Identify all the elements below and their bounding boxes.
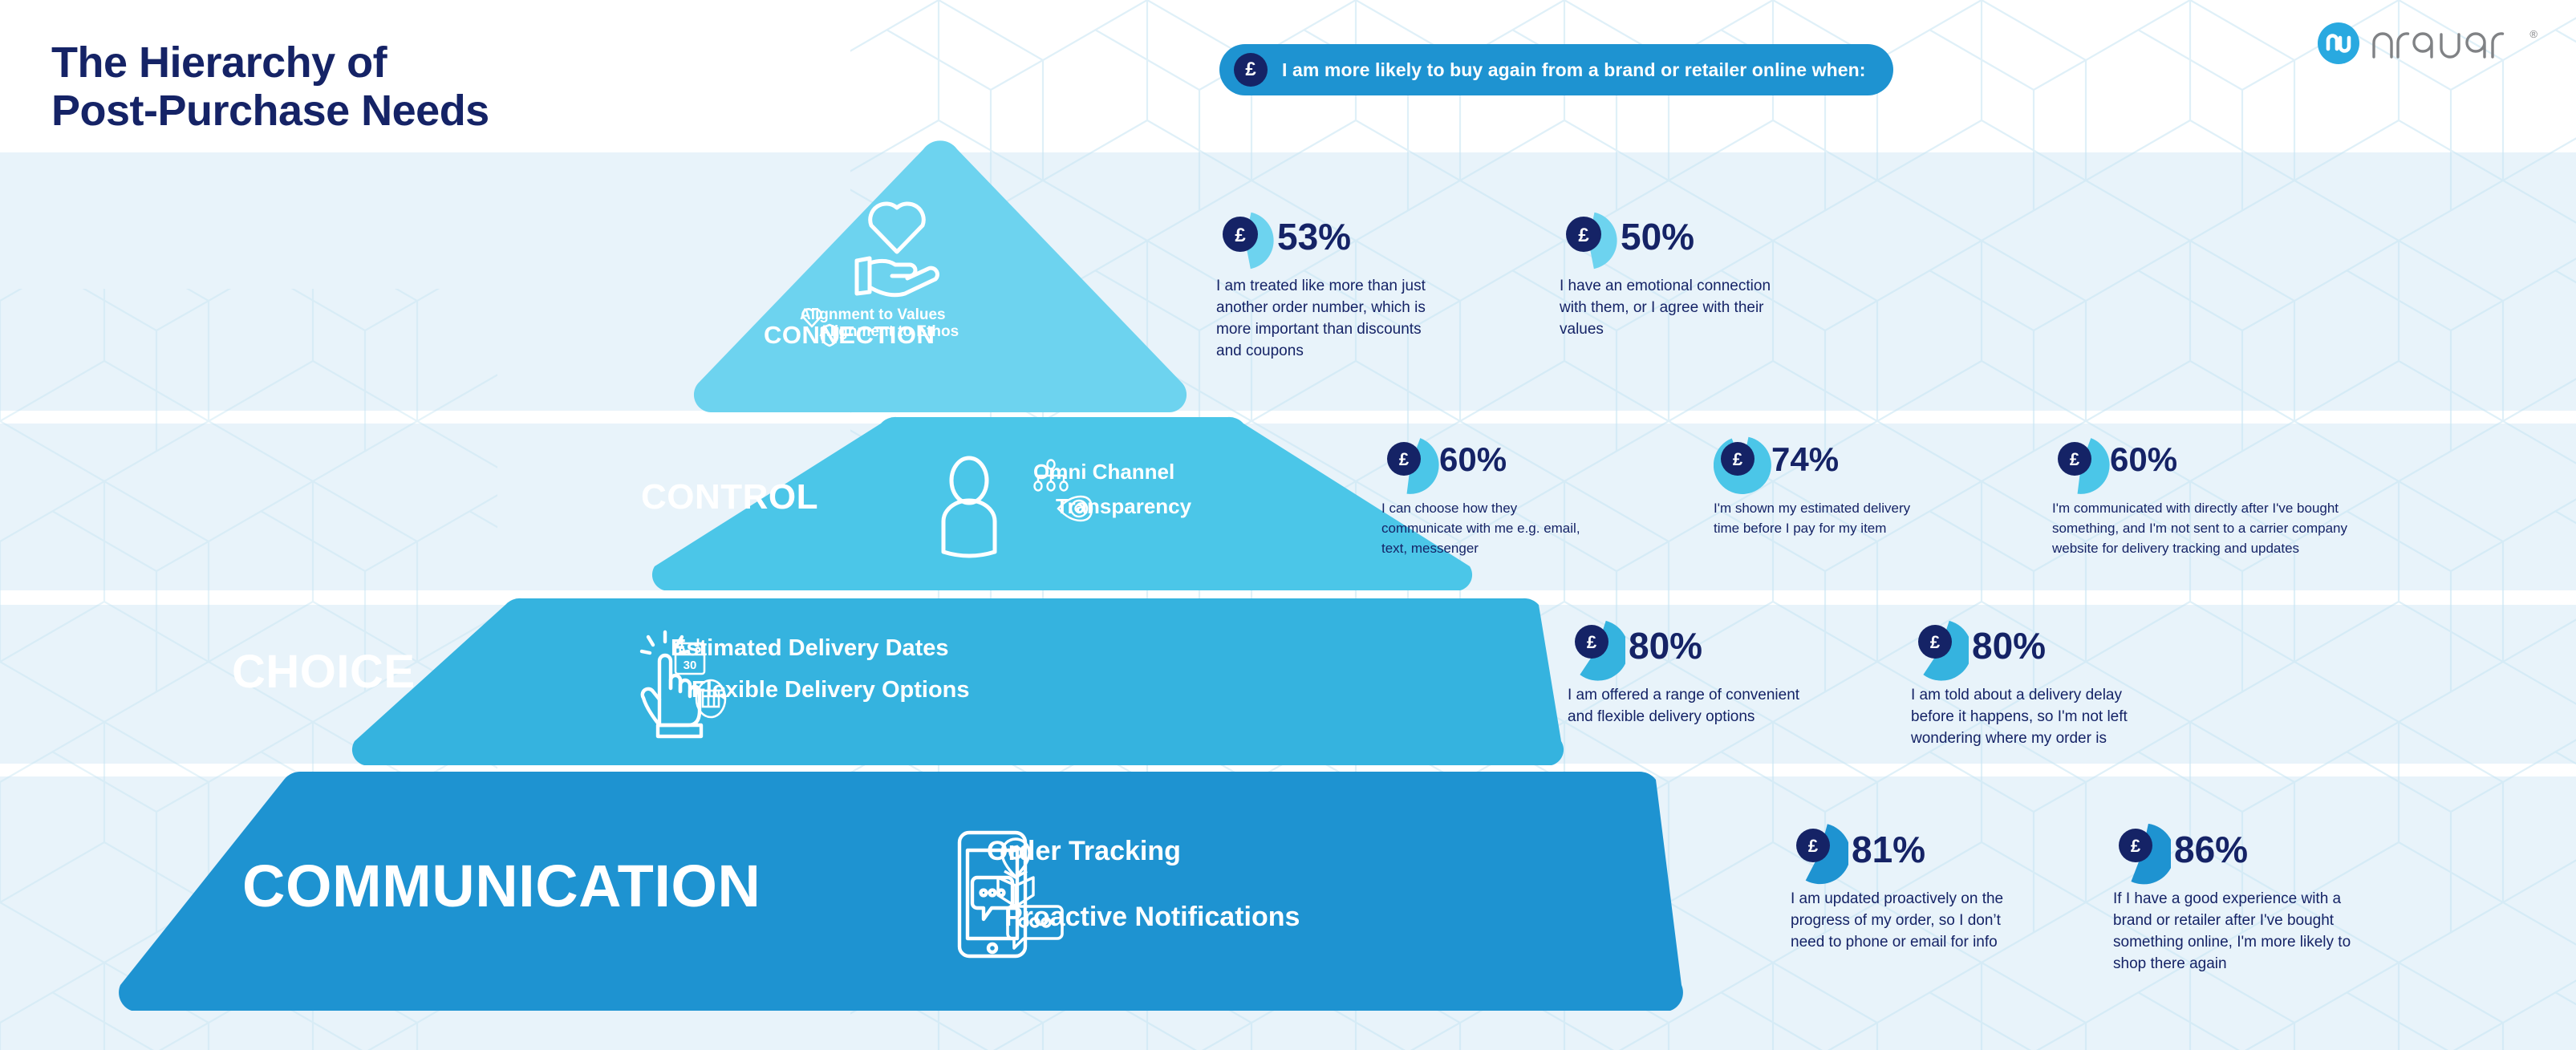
stat-head: £ 50% [1560,215,1776,266]
stat-percent: 80% [1972,627,2046,664]
calendar-30-icon: 30 [671,635,709,679]
feature-label: Estimated Delivery Dates [671,635,949,662]
stat-description: I am updated proactively on the progress… [1791,889,2031,954]
pound-sterling-badge-icon: £ [1791,821,1848,886]
header-banner: £ I am more likely to buy again from a b… [1219,44,1893,95]
stat-percent: 86% [2174,831,2248,868]
pound-sterling-badge-icon: £ [2113,821,2171,886]
feature-label: Alignment to Ethos [819,323,959,341]
page-title-line-2: Post-Purchase Needs [51,87,693,135]
pyramid-tier-communication[interactable]: COMMUNICATION Order Tracking Proactive N… [114,772,1688,1011]
stat-description: I can choose how they communicate with m… [1381,499,1582,558]
stat-card-60-control-b: £ 60% I'm communicated with directly aft… [2052,440,2373,558]
tier-choice-feature-0: Estimated Delivery Dates 30 [671,635,949,662]
tier-control-feature-0: Omni Channel [1033,460,1174,484]
tier-connection-feature-0: Alignment to Values [800,306,946,324]
tier-connection-feature-1: Alignment to Ethos [819,323,959,341]
stat-head: £ 74% [1714,440,1914,491]
stat-percent: 50% [1621,218,1694,255]
stat-description: I have an emotional connection with them… [1560,276,1776,341]
package-location-pin-icon [987,836,1045,910]
stat-card-86: £ 86% If I have a good experience with a… [2113,828,2378,975]
chat-bubble-dots-icon [1004,902,1065,950]
page-title-line-1: The Hierarchy of [51,39,387,87]
page-title: The Hierarchy of Post-Purchase Needs [51,39,693,136]
stat-head: £ 86% [2113,828,2378,879]
stat-percent: 60% [2110,443,2177,476]
stat-card-80-choice-b: £ 80% I am told about a delivery delay b… [1911,624,2168,750]
pyramid-tier-choice[interactable]: CHOICE Estimated Delivery Dates 30 Flexi… [348,598,1568,765]
svg-text:£: £ [1930,632,1941,652]
narvar-logo: ® [2318,22,2537,64]
registered-trademark-mark: ® [2529,28,2537,40]
tier-label-control: CONTROL [641,477,818,517]
stat-description: I am treated like more than just another… [1216,276,1433,363]
stat-head: £ 81% [1791,828,2031,879]
stat-description: I am told about a delivery delay before … [1911,685,2168,750]
stat-card-80-choice-a: £ 80% I am offered a range of convenient… [1568,624,1808,728]
stat-description: I am offered a range of convenient and f… [1568,685,1808,728]
pound-sterling-icon: £ [1234,53,1268,87]
stat-head: £ 60% [2052,440,2373,491]
pound-sterling-badge-icon: £ [1568,618,1625,682]
svg-text:£: £ [1587,632,1597,652]
pound-sterling-badge-icon: £ [1381,433,1439,497]
stat-card-74: £ 74% I'm shown my estimated delivery ti… [1714,440,1914,539]
stat-percent: 53% [1277,218,1351,255]
stat-head: £ 53% [1216,215,1433,266]
pound-sterling-badge-icon: £ [2052,433,2110,497]
stat-percent: 81% [1852,831,1925,868]
pound-sterling-badge-icon: £ [1911,618,1969,682]
shield-icon [819,323,840,347]
pyramid-tier-control[interactable]: CONTROL Omni Channel Transparency [648,417,1476,590]
stat-description: If I have a good experience with a brand… [2113,889,2378,975]
stat-card-81: £ 81% I am updated proactively on the pr… [1791,828,2031,954]
person-icon [921,454,1017,558]
tier-communication-feature-0: Order Tracking [987,836,1181,867]
narvar-wordmark: ® [2371,25,2537,62]
tier-choice-feature-1: Flexible Delivery Options [692,677,970,703]
stat-card-50: £ 50% I have an emotional connection wit… [1560,215,1776,341]
stat-percent: 80% [1629,627,1702,664]
stat-card-60-control-a: £ 60% I can choose how they communicate … [1381,440,1582,558]
svg-text:£: £ [1733,449,1743,469]
svg-text:30: 30 [684,659,697,672]
pound-sterling-badge-icon: £ [1560,209,1617,273]
svg-text:£: £ [2131,836,2141,856]
eye-icon [1056,494,1093,523]
org-chart-icon [1033,460,1069,493]
tier-label-communication: COMMUNICATION [242,852,761,920]
narvar-wordmark-glyphs [2371,25,2528,62]
stat-head: £ 80% [1911,624,2168,675]
stat-percent: 60% [1439,443,1507,476]
tier-control-feature-1: Transparency [1056,494,1191,519]
calendar-refresh-icon [692,677,733,720]
stat-head: £ 80% [1568,624,1808,675]
stat-description: I'm communicated with directly after I'v… [2052,499,2373,558]
stat-percent: 74% [1771,443,1839,476]
svg-text:£: £ [1235,225,1246,246]
svg-text:£: £ [1808,836,1819,856]
svg-text:£: £ [2070,449,2080,469]
stat-card-53: £ 53% I am treated like more than just a… [1216,215,1433,363]
infographic-canvas: The Hierarchy of Post-Purchase Needs £ I… [0,0,2576,1050]
pyramid-tier-connection[interactable]: CONNECTION Alignment to Values Alignment… [692,143,1189,412]
svg-text:£: £ [1578,225,1589,246]
hand-holding-heart-icon [842,193,955,313]
narvar-mark-icon [2318,22,2359,64]
stat-description: I'm shown my estimated delivery time bef… [1714,499,1914,539]
stat-head: £ 60% [1381,440,1582,491]
svg-text:£: £ [1399,449,1410,469]
tier-communication-feature-1: Proactive Notifications [1004,902,1300,933]
tier-label-choice: CHOICE [232,645,416,699]
pound-sterling-badge-icon: £ [1714,433,1771,497]
pound-sterling-badge-icon: £ [1216,209,1274,273]
header-banner-text: I am more likely to buy again from a bra… [1282,59,1866,81]
